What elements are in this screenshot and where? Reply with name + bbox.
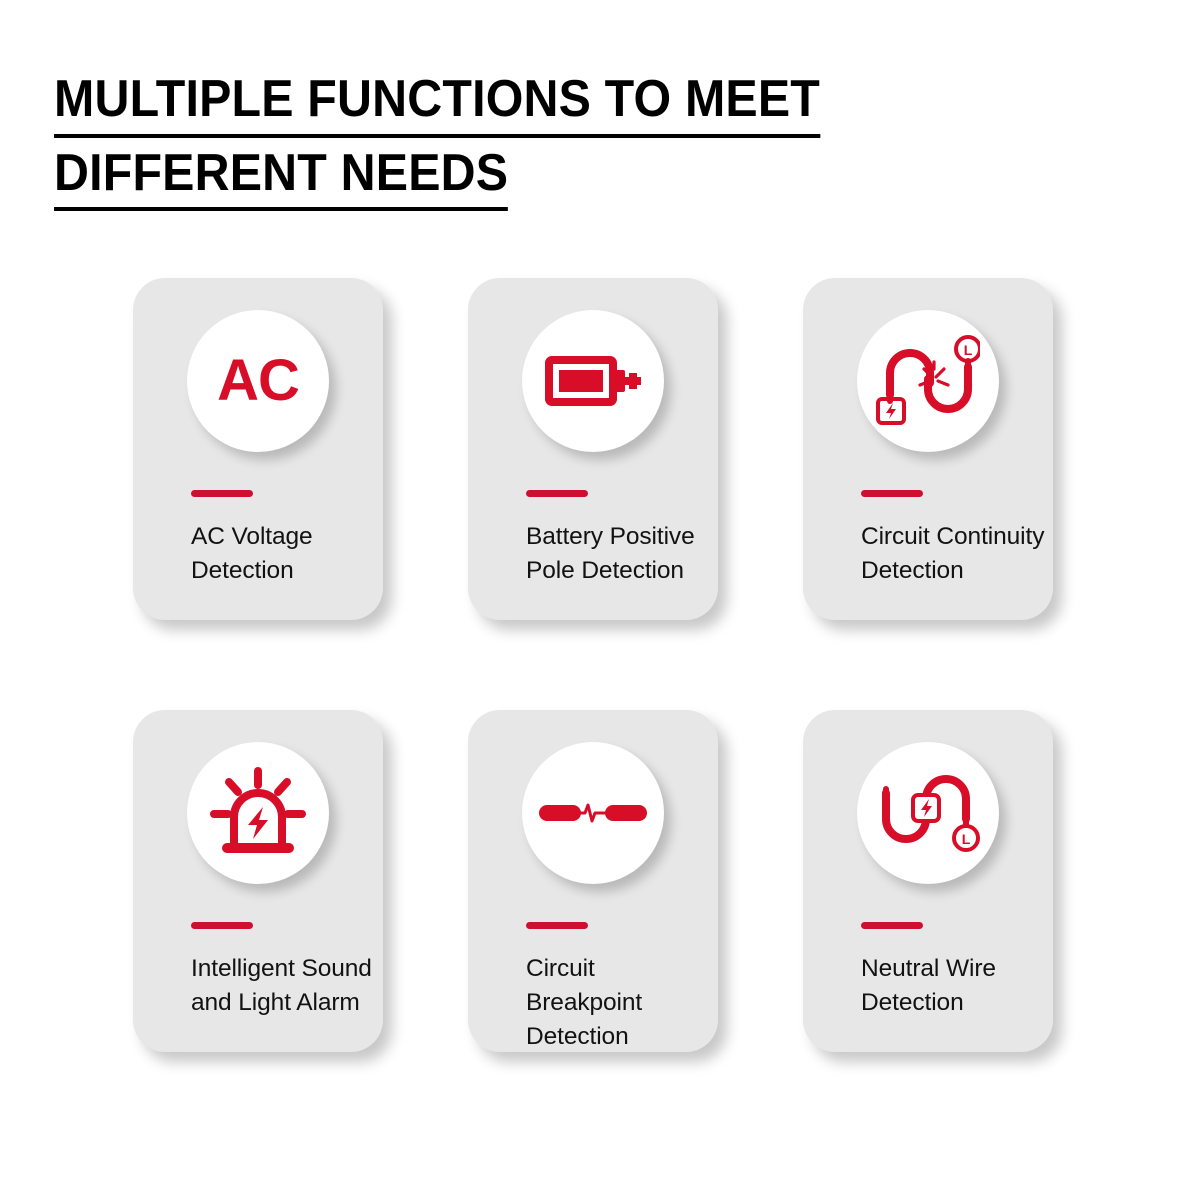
feature-card-intelligent-sound-and-light-alarm[interactable]: Intelligent Sound and Light Alarm xyxy=(133,710,383,1052)
feature-label-line-2: Detection xyxy=(191,557,294,584)
feature-label-line-2: Detection xyxy=(861,557,964,584)
feature-card-ac-voltage-detection[interactable]: AC AC Voltage Detection xyxy=(133,278,383,620)
feature-label-line-1: Circuit Breakpoint xyxy=(526,955,642,1016)
feature-card-grid: AC AC Voltage Detection Battery Posit xyxy=(133,278,1073,1052)
feature-label: Neutral Wire Detection xyxy=(861,952,1051,1020)
page-title-line-1: MULTIPLE FUNCTIONS TO MEET xyxy=(54,72,820,138)
feature-label-line-1: AC Voltage xyxy=(191,523,313,550)
feature-label: Intelligent Sound and Light Alarm xyxy=(191,952,381,1020)
feature-label-line-2: Detection xyxy=(526,1023,629,1050)
divider-dash xyxy=(861,490,923,497)
icon-circle xyxy=(522,310,664,452)
feature-label-line-1: Battery Positive xyxy=(526,523,695,550)
feature-label: Circuit Breakpoint Detection xyxy=(526,952,716,1053)
divider-dash xyxy=(191,922,253,929)
feature-label-line-2: Detection xyxy=(861,989,964,1016)
feature-label: Battery Positive Pole Detection xyxy=(526,520,716,588)
wire-breakpoint-icon xyxy=(539,793,647,833)
feature-label: Circuit Continuity Detection xyxy=(861,520,1051,588)
feature-card-circuit-continuity-detection[interactable]: L Circuit Continuity Detection xyxy=(803,278,1053,620)
divider-dash xyxy=(861,922,923,929)
icon-circle xyxy=(522,742,664,884)
broken-circuit-icon: L xyxy=(876,333,980,429)
page-title: MULTIPLE FUNCTIONS TO MEET DIFFERENT NEE… xyxy=(54,72,1054,219)
divider-dash xyxy=(526,922,588,929)
feature-card-battery-positive-pole-detection[interactable]: Battery Positive Pole Detection xyxy=(468,278,718,620)
feature-card-circuit-breakpoint-detection[interactable]: Circuit Breakpoint Detection xyxy=(468,710,718,1052)
divider-dash xyxy=(191,490,253,497)
feature-card-neutral-wire-detection[interactable]: L Neutral Wire Detection xyxy=(803,710,1053,1052)
feature-label-line-1: Circuit Continuity xyxy=(861,523,1044,550)
icon-circle xyxy=(187,742,329,884)
icon-circle: L xyxy=(857,742,999,884)
connected-circuit-icon: L xyxy=(876,765,980,861)
feature-label-line-1: Intelligent Sound xyxy=(191,955,372,982)
circled-l-label: L xyxy=(964,342,973,358)
feature-label-line-2: and Light Alarm xyxy=(191,989,360,1016)
divider-dash xyxy=(526,490,588,497)
icon-circle: L xyxy=(857,310,999,452)
alarm-siren-icon xyxy=(210,767,306,859)
battery-plus-icon xyxy=(545,346,641,416)
page-title-line-2: DIFFERENT NEEDS xyxy=(54,146,508,212)
feature-label-line-1: Neutral Wire xyxy=(861,955,996,982)
feature-label: AC Voltage Detection xyxy=(191,520,381,588)
circled-l-label: L xyxy=(962,831,971,847)
icon-circle: AC xyxy=(187,310,329,452)
feature-label-line-2: Pole Detection xyxy=(526,557,684,584)
ac-text-icon: AC xyxy=(217,352,299,410)
